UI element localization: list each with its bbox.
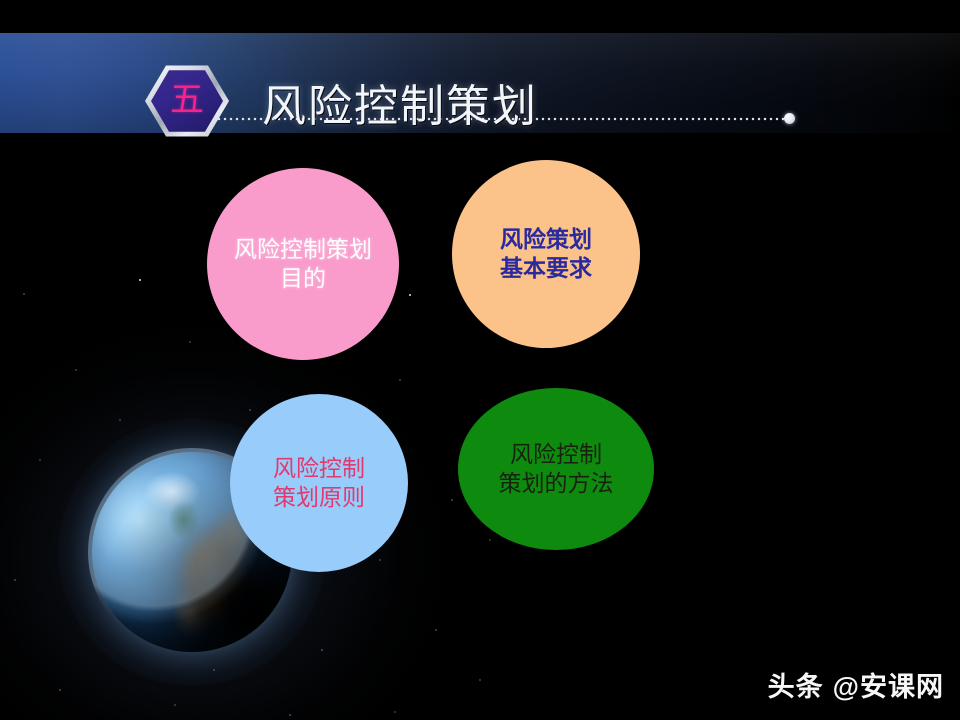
bubble-methods[interactable]: 风险控制 策划的方法 — [458, 388, 654, 550]
watermark: 头条 @安课网 — [768, 665, 944, 704]
header-rule-end-dot-icon — [784, 113, 795, 124]
bubble-purpose[interactable]: 风险控制策划 目的 — [207, 168, 399, 360]
slide-title: 风险控制策划 — [262, 72, 538, 132]
bubble-principles[interactable]: 风险控制 策划原则 — [230, 394, 408, 572]
watermark-brand: 头条 — [768, 665, 824, 704]
bubble-requirements[interactable]: 风险策划 基本要求 — [452, 160, 640, 348]
presentation-slide: 五 风险控制策划 风险控制策划 目的 风险策划 基本要求 风险控制 策划原则 风… — [0, 0, 960, 720]
section-number-badge: 五 — [145, 64, 229, 138]
watermark-handle: @安课网 — [833, 665, 944, 704]
section-number-label: 五 — [151, 69, 223, 133]
